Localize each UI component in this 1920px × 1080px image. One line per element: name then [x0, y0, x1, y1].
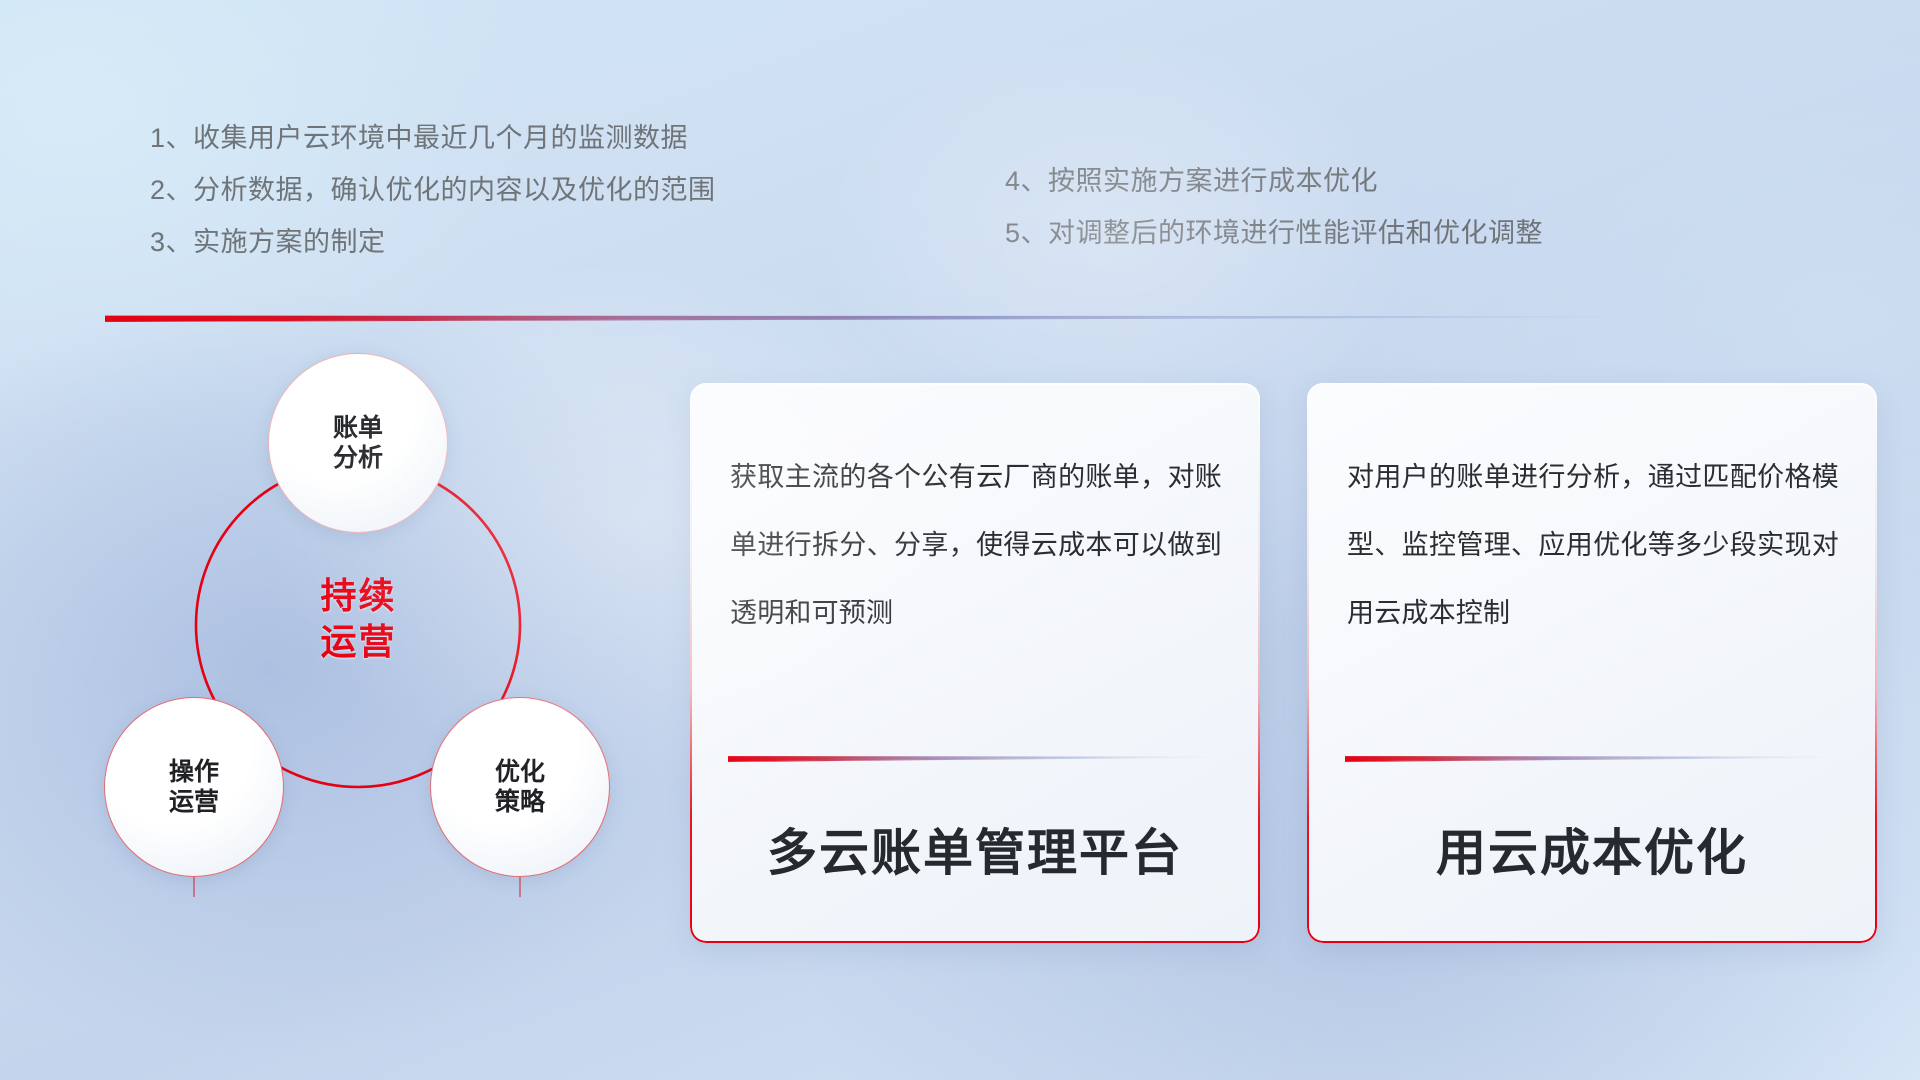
bubble-label-line2: 策略	[495, 787, 545, 818]
bubble-label-line1: 账单	[333, 413, 383, 444]
bubble-optimization-strategy[interactable]: 优化 策略	[430, 697, 610, 877]
bubble-label-line1: 优化	[495, 757, 545, 788]
card-rule	[1345, 755, 1837, 762]
step-item: 2、分析数据，确认优化的内容以及优化的范围	[150, 164, 716, 216]
bubble-label-line2: 分析	[333, 443, 383, 474]
bubble-label-line2: 运营	[169, 787, 219, 818]
step-item: 1、收集用户云环境中最近几个月的监测数据	[150, 112, 716, 164]
card-body-text: 获取主流的各个公有云厂商的账单，对账单进行拆分、分享，使得云成本可以做到透明和可…	[730, 443, 1222, 647]
card-cloud-cost-optimization[interactable]: 对用户的账单进行分析，通过匹配价格模型、监控管理、应用优化等多少段实现对用云成本…	[1307, 383, 1877, 943]
steps-left-column: 1、收集用户云环境中最近几个月的监测数据 2、分析数据，确认优化的内容以及优化的…	[150, 112, 716, 268]
diagram-center-label: 持续 运营	[251, 573, 466, 665]
center-label-line1: 持续	[251, 573, 466, 619]
card-body-text: 对用户的账单进行分析，通过匹配价格模型、监控管理、应用优化等多少段实现对用云成本…	[1347, 443, 1839, 647]
bubble-bill-analysis[interactable]: 账单 分析	[268, 353, 448, 533]
slide-canvas: 1、收集用户云环境中最近几个月的监测数据 2、分析数据，确认优化的内容以及优化的…	[0, 0, 1920, 1080]
steps-right-column: 4、按照实施方案进行成本优化 5、对调整后的环境进行性能评估和优化调整	[1005, 155, 1543, 259]
step-item: 4、按照实施方案进行成本优化	[1005, 155, 1543, 207]
card-rule	[728, 755, 1220, 762]
section-divider	[105, 313, 1650, 322]
bubble-operations[interactable]: 操作 运营	[104, 697, 284, 877]
continuous-operation-diagram: 账单 分析 操作 运营 优化 策略 持续 运营	[100, 345, 660, 945]
card-title: 用云成本优化	[1307, 813, 1877, 885]
step-item: 3、实施方案的制定	[150, 216, 716, 268]
card-title: 多云账单管理平台	[690, 813, 1260, 885]
step-item: 5、对调整后的环境进行性能评估和优化调整	[1005, 207, 1543, 259]
bubble-label-line1: 操作	[169, 757, 219, 788]
center-label-line2: 运营	[251, 619, 466, 665]
card-multi-cloud-bill-platform[interactable]: 获取主流的各个公有云厂商的账单，对账单进行拆分、分享，使得云成本可以做到透明和可…	[690, 383, 1260, 943]
